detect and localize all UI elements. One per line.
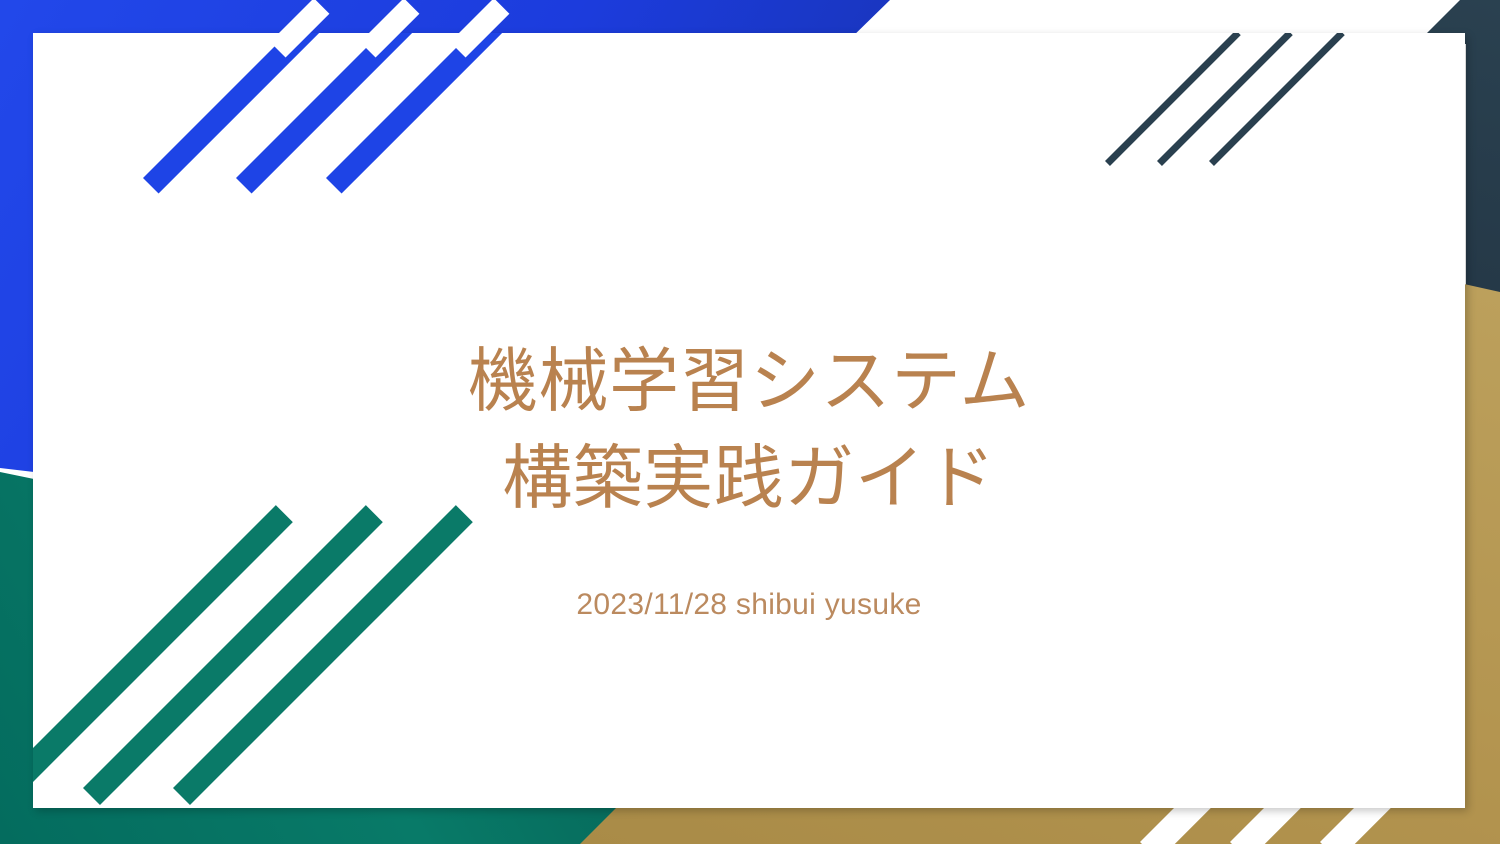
title-block: 機械学習システム 構築実践ガイド 2023/11/28 shibui yusuk… bbox=[33, 333, 1465, 622]
blue-stripe-1 bbox=[143, 33, 413, 194]
teal-stripe-1 bbox=[1105, 33, 1241, 166]
teal-stripe-2 bbox=[1157, 33, 1293, 166]
page-title: 機械学習システム 構築実践ガイド bbox=[33, 333, 1465, 526]
slide-card: 機械学習システム 構築実践ガイド 2023/11/28 shibui yusuk… bbox=[33, 33, 1465, 808]
blue-stripe-group bbox=[33, 33, 673, 233]
teal-stripe-3 bbox=[1209, 33, 1345, 166]
blue-stripe-3 bbox=[326, 33, 554, 194]
slide-subtitle: 2023/11/28 shibui yusuke bbox=[33, 588, 1465, 622]
blue-stripe-2 bbox=[236, 33, 485, 194]
title-slide: 機械学習システム 構築実践ガイド 2023/11/28 shibui yusuk… bbox=[0, 0, 1500, 844]
teal-stripe-group bbox=[1045, 33, 1465, 203]
